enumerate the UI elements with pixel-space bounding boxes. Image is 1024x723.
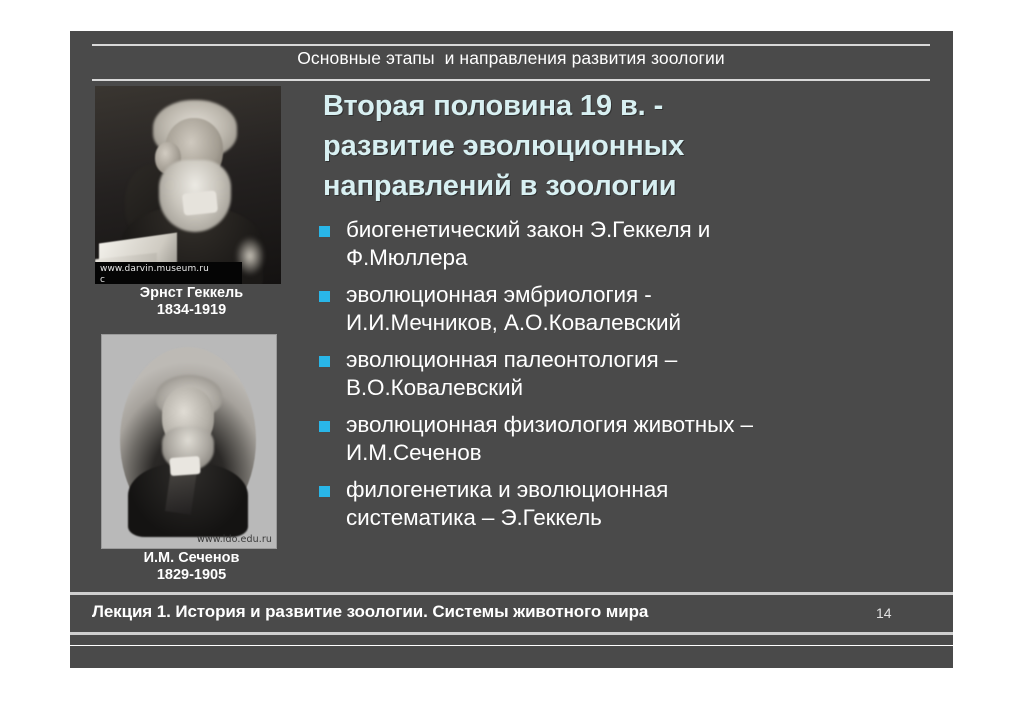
footer-text: Лекция 1. История и развитие зоологии. С… (92, 602, 648, 622)
bullet-text: биогенетический закон Э.Геккеля и Ф.Мюлл… (346, 216, 710, 272)
portrait-caption-sechenov: И.М. Сеченов 1829-1905 (89, 550, 294, 584)
portrait-photo-haeckel: www.darvin.museum.ru c (95, 86, 281, 284)
square-bullet-icon (319, 486, 330, 497)
portrait-caption-dates: 1829-1905 (89, 567, 294, 584)
portrait-collar-shape (182, 190, 218, 215)
photo-watermark-ido: www.ido.edu.ru (197, 534, 272, 545)
slide-page: Основные этапы и направления развития зо… (0, 0, 1024, 723)
bullet-list: биогенетический закон Э.Геккеля и Ф.Мюлл… (318, 216, 933, 532)
slide-bottom-band (70, 646, 953, 668)
slide-main-title: Вторая половина 19 в. - развитие эволюци… (323, 86, 933, 206)
portrait-block-haeckel: www.darvin.museum.ru c Эрнст Геккель 183… (87, 86, 309, 319)
list-item: эволюционная палеонтология – В.О.Ковалев… (318, 346, 933, 402)
list-item: филогенетика и эволюционная систематика … (318, 476, 933, 532)
square-bullet-icon (319, 226, 330, 237)
portrait-photo-sechenov: www.ido.edu.ru (101, 334, 277, 549)
list-item: биогенетический закон Э.Геккеля и Ф.Мюлл… (318, 216, 933, 272)
photo-watermark-darvin: www.darvin.museum.ru c (95, 262, 242, 284)
list-item: эволюционная эмбриология - И.И.Мечников,… (318, 281, 933, 337)
square-bullet-icon (319, 421, 330, 432)
bullet-text: эволюционная палеонтология – В.О.Ковалев… (346, 346, 677, 402)
portrait-caption-name: И.М. Сеченов (144, 550, 240, 566)
slide-footer: Лекция 1. История и развитие зоологии. С… (70, 595, 953, 632)
presentation-slide: Основные этапы и направления развития зо… (70, 31, 953, 645)
slide-header-title: Основные этапы и направления развития зо… (92, 48, 930, 69)
slide-page-number: 14 (876, 605, 892, 621)
portrait-caption-haeckel: Эрнст Геккель 1834-1919 (89, 285, 294, 319)
bullet-text: филогенетика и эволюционная систематика … (346, 476, 668, 532)
bullet-text: эволюционная физиология животных – И.М.С… (346, 411, 753, 467)
header-rule-top (92, 44, 930, 46)
portrait-block-sechenov: www.ido.edu.ru И.М. Сеченов 1829-1905 (87, 334, 309, 584)
square-bullet-icon (319, 356, 330, 367)
portrait-caption-name: Эрнст Геккель (140, 285, 243, 301)
list-item: эволюционная физиология животных – И.М.С… (318, 411, 933, 467)
header-rule-bottom (92, 79, 930, 81)
bullet-text: эволюционная эмбриология - И.И.Мечников,… (346, 281, 681, 337)
portraits-column: www.darvin.museum.ru c Эрнст Геккель 183… (87, 86, 309, 606)
footer-rule-bottom (70, 632, 953, 635)
portrait-caption-dates: 1834-1919 (89, 302, 294, 319)
square-bullet-icon (319, 291, 330, 302)
content-column: Вторая половина 19 в. - развитие эволюци… (318, 86, 933, 541)
portrait-collar-shape (169, 456, 200, 476)
